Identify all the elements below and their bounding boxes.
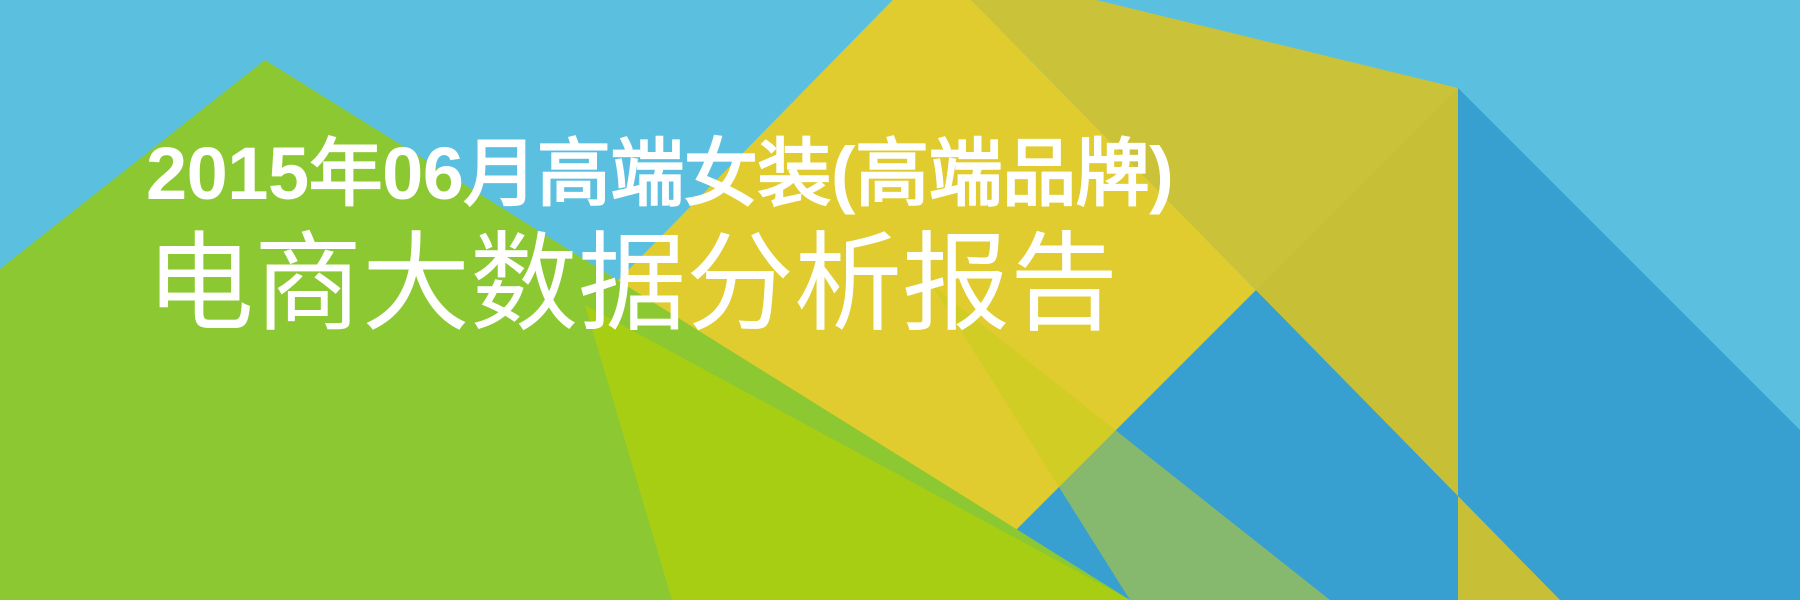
report-cover-banner: 2015年06月高端女装(高端品牌) 电商大数据分析报告 — [0, 0, 1800, 600]
geometric-background — [0, 0, 1800, 600]
